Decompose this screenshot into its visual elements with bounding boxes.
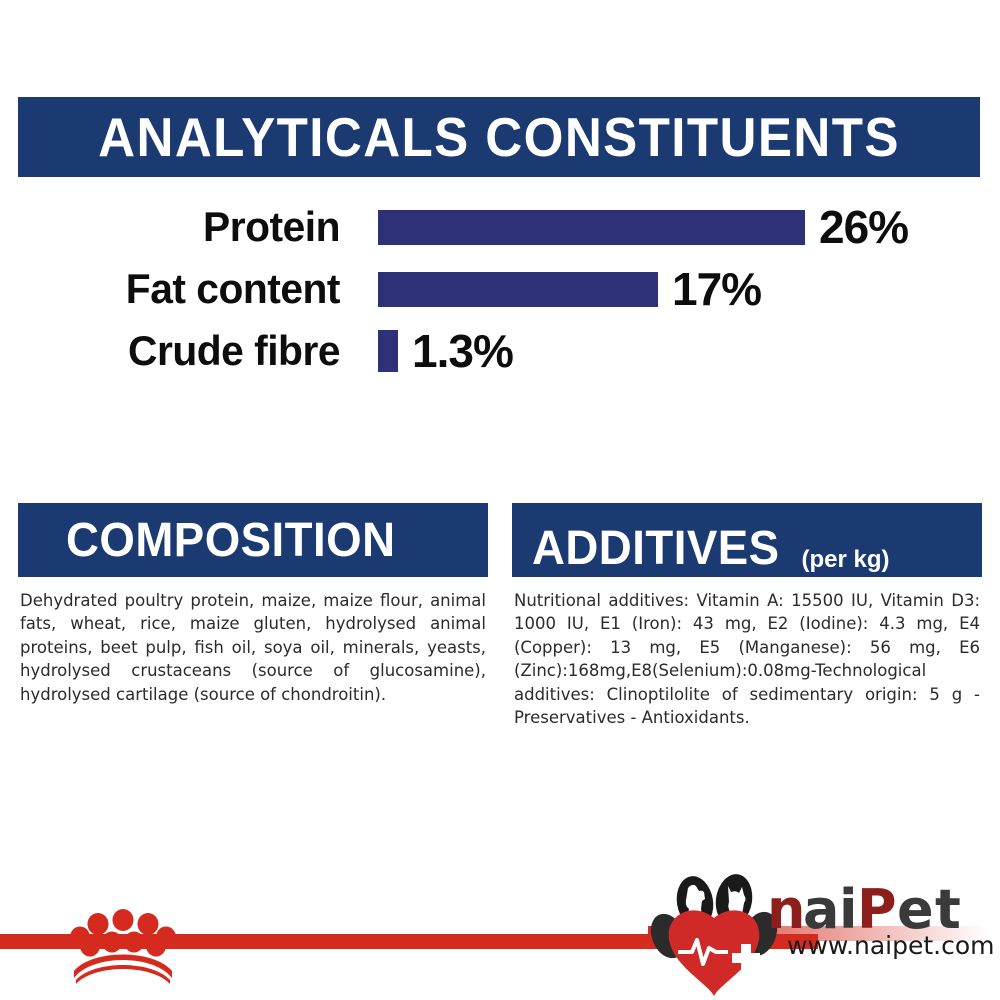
additives-body: Nutritional additives: Vitamin A: 15500 … <box>512 577 982 730</box>
composition-title: COMPOSITION <box>66 513 396 568</box>
analyticals-constituents-header: ANALYTICALS CONSTITUENTS <box>18 97 980 177</box>
bar-label-protein: Protein <box>10 206 340 248</box>
bar-label-crude-fibre: Crude fibre <box>10 330 340 372</box>
page-title: ANALYTICALS CONSTITUENTS <box>98 105 900 169</box>
bar-value-crude-fibre: 1.3% <box>412 328 513 374</box>
composition-panel: COMPOSITION Dehydrated poultry protein, … <box>18 503 488 706</box>
bar-label-fat-content: Fat content <box>10 268 340 310</box>
additives-header: ADDITIVES (per kg) <box>512 503 982 577</box>
bar-row: Crude fibre 1.3% <box>0 320 1000 382</box>
bar-row: Fat content 17% <box>0 258 1000 320</box>
bar-track: 26% <box>378 204 908 250</box>
site-url[interactable]: www.naipet.com <box>787 931 995 960</box>
naipet-wordmark: n a i P e t www.naipet.com <box>765 882 1000 962</box>
bar-row: Protein 26% <box>0 196 1000 258</box>
bar-track: 17% <box>378 266 761 312</box>
bar-value-protein: 26% <box>819 204 908 250</box>
composition-body: Dehydrated poultry protein, maize, maize… <box>18 577 488 706</box>
analyticals-bar-chart: Protein 26% Fat content 17% Crude fibre … <box>0 196 1000 386</box>
additives-panel: ADDITIVES (per kg) Nutritional additives… <box>512 503 982 730</box>
bar-fill-fat-content <box>378 272 658 307</box>
bar-value-fat-content: 17% <box>672 266 761 312</box>
composition-header: COMPOSITION <box>18 503 488 577</box>
royal-canin-crown-icon <box>68 894 178 986</box>
bar-track: 1.3% <box>378 328 513 374</box>
bar-fill-protein <box>378 210 805 245</box>
additives-subtitle: (per kg) <box>802 546 890 574</box>
bar-fill-crude-fibre <box>378 330 398 372</box>
footer: n a i P e t www.naipet.com <box>0 900 1000 1000</box>
additives-title: ADDITIVES <box>532 529 780 568</box>
